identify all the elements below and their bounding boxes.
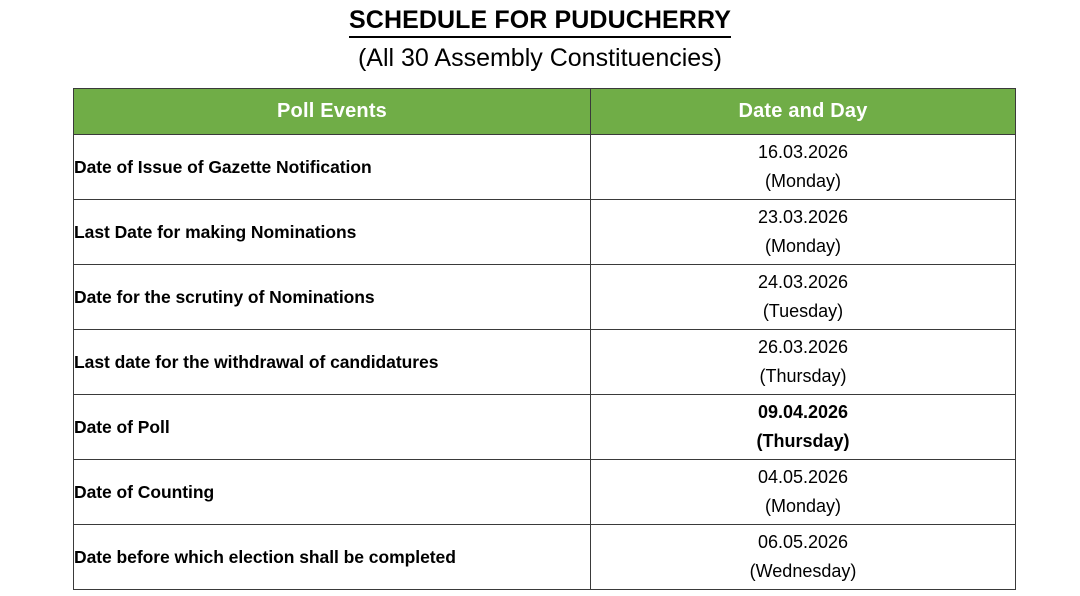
page-subtitle: (All 30 Assembly Constituencies) xyxy=(0,42,1080,74)
cell-poll-event: Last Date for making Nominations xyxy=(74,200,591,265)
cell-date-value: 26.03.2026 xyxy=(591,333,1015,362)
cell-poll-event: Date for the scrutiny of Nominations xyxy=(74,265,591,330)
cell-date-and-day: 24.03.2026(Tuesday) xyxy=(591,265,1016,330)
table-row: Date of Issue of Gazette Notification16.… xyxy=(74,135,1016,200)
table-row: Last date for the withdrawal of candidat… xyxy=(74,330,1016,395)
table-header-row: Poll Events Date and Day xyxy=(74,89,1016,135)
cell-date-value: 24.03.2026 xyxy=(591,268,1015,297)
cell-day-value: (Monday) xyxy=(591,167,1015,196)
cell-date-value: 09.04.2026 xyxy=(591,398,1015,427)
cell-date-and-day: 06.05.2026(Wednesday) xyxy=(591,525,1016,590)
table-row: Date before which election shall be comp… xyxy=(74,525,1016,590)
page-title: SCHEDULE FOR PUDUCHERRY xyxy=(349,5,731,38)
cell-poll-event: Date of Issue of Gazette Notification xyxy=(74,135,591,200)
cell-poll-event: Date before which election shall be comp… xyxy=(74,525,591,590)
schedule-table-container: Poll Events Date and Day Date of Issue o… xyxy=(73,88,1015,590)
cell-date-value: 06.05.2026 xyxy=(591,528,1015,557)
cell-date-value: 23.03.2026 xyxy=(591,203,1015,232)
cell-day-value: (Thursday) xyxy=(591,362,1015,391)
cell-date-value: 04.05.2026 xyxy=(591,463,1015,492)
cell-date-and-day: 23.03.2026(Monday) xyxy=(591,200,1016,265)
table-row: Date of Poll09.04.2026(Thursday) xyxy=(74,395,1016,460)
cell-date-value: 16.03.2026 xyxy=(591,138,1015,167)
cell-day-value: (Monday) xyxy=(591,492,1015,521)
cell-date-and-day: 16.03.2026(Monday) xyxy=(591,135,1016,200)
table-body: Date of Issue of Gazette Notification16.… xyxy=(74,135,1016,590)
cell-date-and-day: 26.03.2026(Thursday) xyxy=(591,330,1016,395)
cell-day-value: (Monday) xyxy=(591,232,1015,261)
table-row: Last Date for making Nominations23.03.20… xyxy=(74,200,1016,265)
column-header-poll-events: Poll Events xyxy=(74,89,591,135)
cell-day-value: (Tuesday) xyxy=(591,297,1015,326)
cell-poll-event: Date of Counting xyxy=(74,460,591,525)
table-row: Date for the scrutiny of Nominations24.0… xyxy=(74,265,1016,330)
document-page: SCHEDULE FOR PUDUCHERRY (All 30 Assembly… xyxy=(0,0,1080,596)
cell-poll-event: Date of Poll xyxy=(74,395,591,460)
schedule-table: Poll Events Date and Day Date of Issue o… xyxy=(73,88,1016,590)
cell-date-and-day: 09.04.2026(Thursday) xyxy=(591,395,1016,460)
cell-date-and-day: 04.05.2026(Monday) xyxy=(591,460,1016,525)
table-header: Poll Events Date and Day xyxy=(74,89,1016,135)
cell-poll-event: Last date for the withdrawal of candidat… xyxy=(74,330,591,395)
title-block: SCHEDULE FOR PUDUCHERRY (All 30 Assembly… xyxy=(0,0,1080,74)
column-header-date-and-day: Date and Day xyxy=(591,89,1016,135)
cell-day-value: (Wednesday) xyxy=(591,557,1015,586)
table-row: Date of Counting04.05.2026(Monday) xyxy=(74,460,1016,525)
cell-day-value: (Thursday) xyxy=(591,427,1015,456)
